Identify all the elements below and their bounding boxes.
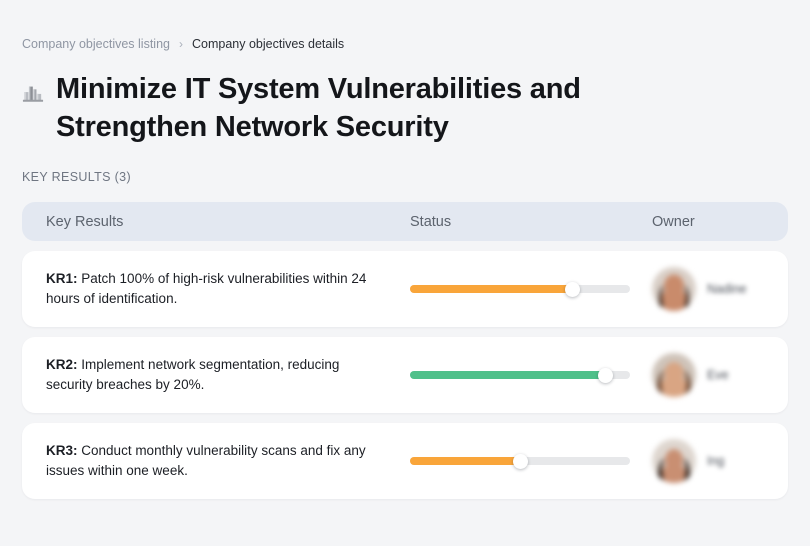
key-result-id: KR2:: [46, 357, 78, 372]
status-cell: [410, 371, 652, 379]
avatar: [652, 267, 696, 311]
chevron-right-icon: ›: [179, 38, 183, 50]
key-result-text: KR2: Implement network segmentation, red…: [46, 355, 410, 396]
key-result-cell: KR1: Patch 100% of high-risk vulnerabili…: [22, 269, 410, 310]
progress-slider[interactable]: [410, 457, 630, 465]
status-cell: [410, 457, 652, 465]
key-result-description: Patch 100% of high-risk vulnerabilities …: [46, 271, 366, 306]
key-result-text: KR3: Conduct monthly vulnerability scans…: [46, 441, 410, 482]
progress-fill: [410, 371, 606, 379]
owner[interactable]: Nadine: [652, 267, 788, 311]
owner-name: Nadine: [707, 282, 747, 296]
owner-cell: Eve: [652, 353, 788, 397]
key-result-text: KR1: Patch 100% of high-risk vulnerabili…: [46, 269, 410, 310]
table-body: KR1: Patch 100% of high-risk vulnerabili…: [22, 251, 788, 499]
table-row[interactable]: KR1: Patch 100% of high-risk vulnerabili…: [22, 251, 788, 327]
progress-slider[interactable]: [410, 371, 630, 379]
page-title: Minimize IT System Vulnerabilities and S…: [56, 70, 616, 147]
breadcrumb-link-listing[interactable]: Company objectives listing: [22, 38, 170, 51]
progress-slider-handle[interactable]: [565, 282, 580, 297]
breadcrumb: Company objectives listing › Company obj…: [22, 0, 788, 51]
status-cell: [410, 285, 652, 293]
column-header-owner: Owner: [652, 214, 788, 230]
table-row[interactable]: KR3: Conduct monthly vulnerability scans…: [22, 423, 788, 499]
owner-name: Ing: [707, 454, 724, 468]
breadcrumb-current-details: Company objectives details: [192, 38, 344, 51]
page-title-row: Minimize IT System Vulnerabilities and S…: [22, 70, 788, 147]
owner[interactable]: Ing: [652, 439, 788, 483]
owner-cell: Ing: [652, 439, 788, 483]
progress-slider[interactable]: [410, 285, 630, 293]
owner[interactable]: Eve: [652, 353, 788, 397]
progress-fill: [410, 285, 573, 293]
cityscape-buildings-icon: [22, 82, 44, 104]
key-result-cell: KR3: Conduct monthly vulnerability scans…: [22, 441, 410, 482]
progress-slider-handle[interactable]: [598, 368, 613, 383]
key-result-cell: KR2: Implement network segmentation, red…: [22, 355, 410, 396]
column-header-status: Status: [410, 214, 652, 230]
table-header-row: Key Results Status Owner: [22, 202, 788, 241]
column-header-key-results: Key Results: [22, 214, 410, 230]
key-result-description: Implement network segmentation, reducing…: [46, 357, 339, 392]
key-result-id: KR1:: [46, 271, 78, 286]
key-result-id: KR3:: [46, 443, 78, 458]
avatar: [652, 439, 696, 483]
key-results-section-label: KEY RESULTS (3): [22, 170, 788, 184]
owner-cell: Nadine: [652, 267, 788, 311]
progress-fill: [410, 457, 520, 465]
objective-details-page: Company objectives listing › Company obj…: [0, 0, 810, 546]
avatar: [652, 353, 696, 397]
owner-name: Eve: [707, 368, 729, 382]
table-row[interactable]: KR2: Implement network segmentation, red…: [22, 337, 788, 413]
progress-slider-handle[interactable]: [513, 454, 528, 469]
key-result-description: Conduct monthly vulnerability scans and …: [46, 443, 366, 478]
key-results-table: Key Results Status Owner KR1: Patch 100%…: [22, 202, 788, 499]
